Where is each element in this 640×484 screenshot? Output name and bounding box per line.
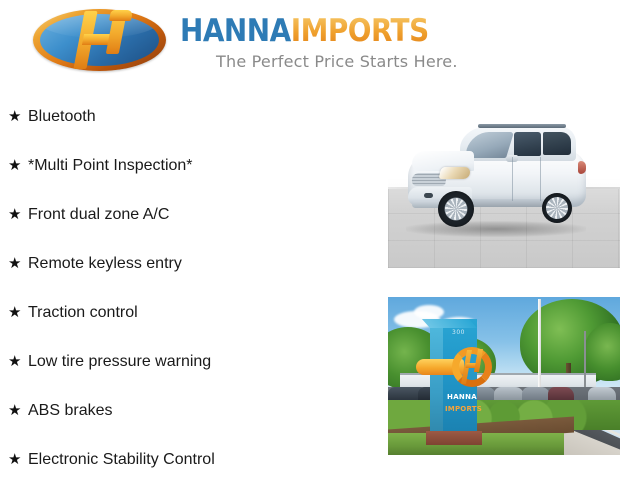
roof-rail xyxy=(478,124,566,128)
list-item: ★ Electronic Stability Control xyxy=(0,435,380,484)
headlight xyxy=(439,167,472,179)
side-window-rear xyxy=(543,132,571,155)
feature-label: Low tire pressure warning xyxy=(28,353,211,371)
star-bullet-icon: ★ xyxy=(8,256,28,271)
list-item: ★ *Multi Point Inspection* xyxy=(0,141,380,190)
vehicle-features-list: ★ Bluetooth ★ *Multi Point Inspection* ★… xyxy=(0,92,380,484)
pylon-side-face xyxy=(430,325,444,437)
rear-wheel xyxy=(542,193,572,223)
list-item: ★ Remote keyless entry xyxy=(0,239,380,288)
door-seam-rear xyxy=(540,157,541,201)
brand-name-imports: IMPORTS xyxy=(291,13,429,49)
fog-light-left xyxy=(424,193,433,198)
star-bullet-icon: ★ xyxy=(8,403,28,418)
feature-label: *Multi Point Inspection* xyxy=(28,157,193,175)
logo-h-hook xyxy=(109,10,133,21)
brand-tagline: The Perfect Price Starts Here. xyxy=(216,52,458,71)
star-bullet-icon: ★ xyxy=(8,109,28,124)
rocker-panel xyxy=(466,199,550,207)
sign-text-imports: IMPORTS xyxy=(445,405,479,413)
pylon-top-cap xyxy=(422,319,477,328)
list-item: ★ Front dual zone A/C xyxy=(0,190,380,239)
star-bullet-icon: ★ xyxy=(8,305,28,320)
list-item: ★ Traction control xyxy=(0,288,380,337)
light-pole xyxy=(584,331,586,393)
sign-street-number: 300 xyxy=(452,329,465,336)
dealership-monument-sign: 300 HANNA IMPORTS xyxy=(430,319,486,443)
star-bullet-icon: ★ xyxy=(8,452,28,467)
side-window-front xyxy=(514,132,541,156)
star-bullet-icon: ★ xyxy=(8,158,28,173)
brand-header: HANNAIMPORTS The Perfect Price Starts He… xyxy=(0,0,640,88)
feature-label: Bluetooth xyxy=(28,108,96,126)
front-wheel-spokes xyxy=(445,198,467,220)
star-bullet-icon: ★ xyxy=(8,207,28,222)
vehicle-photo[interactable] xyxy=(388,95,620,268)
front-wheel xyxy=(438,191,474,227)
logo-h-monogram-icon xyxy=(33,9,166,71)
list-item: ★ Bluetooth xyxy=(0,92,380,141)
taillight xyxy=(578,161,586,174)
pylon-brick-base xyxy=(426,431,482,445)
feature-label: Remote keyless entry xyxy=(28,255,182,273)
feature-label: Traction control xyxy=(28,304,138,322)
feature-label: Electronic Stability Control xyxy=(28,451,215,469)
star-bullet-icon: ★ xyxy=(8,354,28,369)
brand-wordmark: HANNAIMPORTS xyxy=(180,14,429,48)
cloud xyxy=(414,305,444,319)
dealership-photo[interactable]: 300 HANNA IMPORTS xyxy=(388,297,620,455)
rear-wheel-spokes xyxy=(546,197,568,219)
door-seam-front xyxy=(512,157,513,201)
minivan-illustration xyxy=(402,121,594,233)
brand-name-hanna: HANNA xyxy=(180,13,291,49)
list-item: ★ ABS brakes xyxy=(0,386,380,435)
feature-label: Front dual zone A/C xyxy=(28,206,169,224)
sign-text-hanna: HANNA xyxy=(447,393,477,401)
hanna-imports-logo-icon xyxy=(33,9,166,71)
list-item: ★ Low tire pressure warning xyxy=(0,337,380,386)
feature-label: ABS brakes xyxy=(28,402,112,420)
